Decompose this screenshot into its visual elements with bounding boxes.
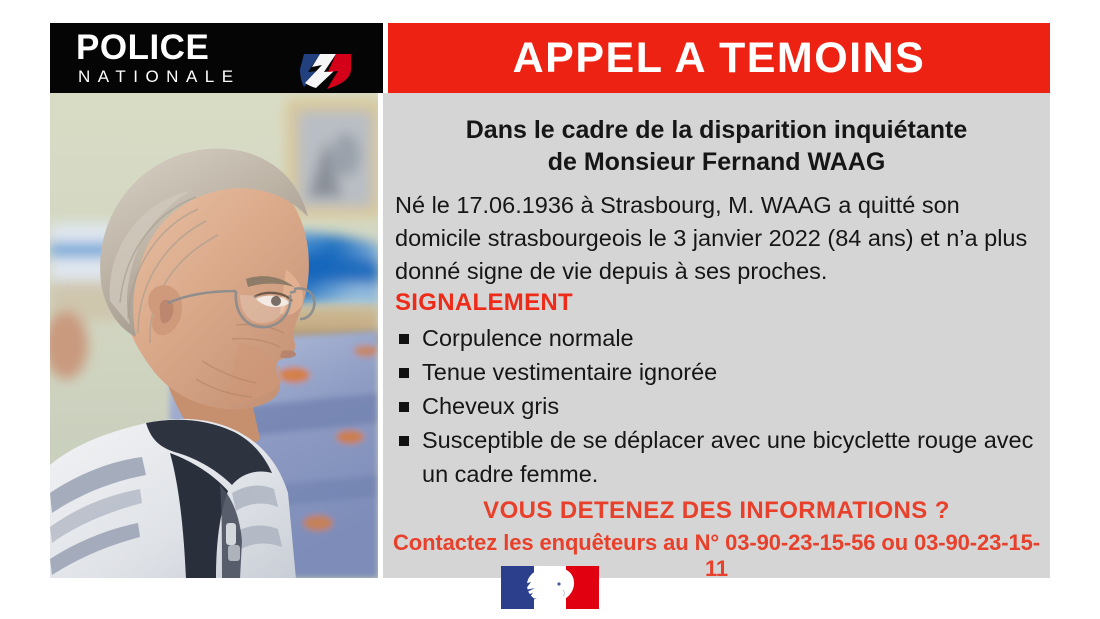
contact-phone-numbers: Contactez les enquêteurs au N° 03-90-23-… <box>383 530 1050 582</box>
page-title: Dans le cadre de la disparition inquiéta… <box>401 114 1032 178</box>
list-item-label: Cheveux gris <box>422 393 559 419</box>
appel-a-temoins-poster: POLICE NATIONALE APPEL A TEMOINS <box>0 0 1100 619</box>
police-nationale-shield-icon <box>294 47 356 93</box>
square-bullet-icon <box>399 402 409 412</box>
square-bullet-icon <box>399 368 409 378</box>
square-bullet-icon <box>399 334 409 344</box>
list-item-label: Corpulence normale <box>422 325 634 351</box>
list-item: Cheveux gris <box>395 389 1040 423</box>
headline-line-2: de Monsieur Fernand WAAG <box>548 148 886 176</box>
list-item: Tenue vestimentaire ignorée <box>395 355 1040 389</box>
signalement-heading: SIGNALEMENT <box>395 289 573 317</box>
police-nationale-logo-block: POLICE NATIONALE <box>50 23 383 93</box>
logo-nationale-text: NATIONALE <box>78 68 241 85</box>
list-item: Corpulence normale <box>395 321 1040 355</box>
headline-line-1: Dans le cadre de la disparition inquiéta… <box>466 116 968 144</box>
square-bullet-icon <box>399 436 409 446</box>
signalement-list: Corpulence normale Tenue vestimentaire i… <box>395 321 1040 491</box>
disappearance-description: Né le 17.06.1936 à Strasbourg, M. WAAG a… <box>395 189 1040 288</box>
logo-police-text: POLICE <box>76 30 209 65</box>
appel-a-temoins-banner: APPEL A TEMOINS <box>388 23 1050 93</box>
poster-content-panel: Dans le cadre de la disparition inquiéta… <box>383 93 1050 578</box>
marianne-french-republic-icon <box>501 566 599 609</box>
list-item-label: Susceptible de se déplacer avec une bicy… <box>422 427 1033 487</box>
missing-person-photo <box>50 93 378 578</box>
list-item: Susceptible de se déplacer avec une bicy… <box>395 423 1040 491</box>
banner-title: APPEL A TEMOINS <box>388 23 1050 93</box>
list-item-label: Tenue vestimentaire ignorée <box>422 359 717 385</box>
call-to-action-question: VOUS DETENEZ DES INFORMATIONS ? <box>383 497 1050 525</box>
